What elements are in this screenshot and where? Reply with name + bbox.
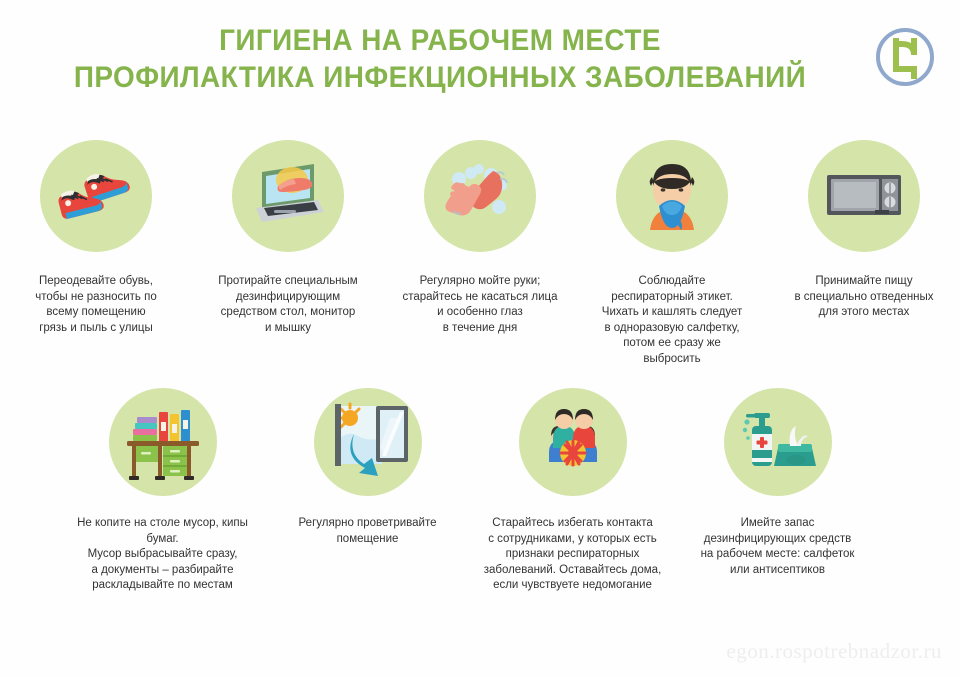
tip-caption: Протирайте специальным дезинфицирующим с…: [198, 274, 378, 336]
tip-caption: Старайтесь избегать контакта с сотрудник…: [473, 516, 673, 594]
title-line-1: ГИГИЕНА НА РАБОЧЕМ МЕСТЕ: [31, 22, 849, 59]
tip-card: Принимайте пищу в специально отведенных …: [768, 140, 960, 367]
icon-circle: [808, 140, 920, 252]
tip-caption: Соблюдайте респираторный этикет. Чихать …: [582, 274, 762, 367]
laptop-wipe-icon: [244, 150, 332, 243]
icon-circle: [424, 140, 536, 252]
tip-caption: Регулярно проветривайте помещение: [268, 516, 468, 547]
tip-caption: Не копите на столе мусор, кипы бумаг. Му…: [63, 516, 263, 594]
icon-circle: [314, 388, 422, 496]
icon-circle: [232, 140, 344, 252]
tips-row-2: Не копите на столе мусор, кипы бумаг. Му…: [60, 388, 900, 594]
rospotrebnadzor-logo: [872, 24, 938, 90]
tip-caption: Имейте запас дезинфицирующих средств на …: [678, 516, 878, 578]
watermark: egon.rospotrebnadzor.ru: [726, 639, 942, 664]
tip-card: Протирайте специальным дезинфицирующим с…: [192, 140, 384, 367]
icon-circle: [519, 388, 627, 496]
tip-card: Имейте запас дезинфицирующих средств на …: [675, 388, 880, 594]
tip-caption: Переодевайте обувь, чтобы не разносить п…: [6, 274, 186, 336]
header: ГИГИЕНА НА РАБОЧЕМ МЕСТЕ ПРОФИЛАКТИКА ИН…: [0, 0, 960, 115]
tip-card: Не копите на столе мусор, кипы бумаг. Му…: [60, 388, 265, 594]
tip-card: Соблюдайте респираторный этикет. Чихать …: [576, 140, 768, 367]
avoid-contact-virus-icon: [529, 396, 617, 489]
tip-caption: Принимайте пищу в специально отведенных …: [774, 274, 954, 321]
open-window-airflow-icon: [324, 396, 412, 489]
page-title: ГИГИЕНА НА РАБОЧЕМ МЕСТЕ ПРОФИЛАКТИКА ИН…: [0, 22, 880, 96]
icon-circle: [724, 388, 832, 496]
microwave-icon: [819, 149, 909, 244]
sneakers-icon: [53, 151, 139, 242]
tip-card: Регулярно проветривайте помещение: [265, 388, 470, 594]
tip-card: Переодевайте обувь, чтобы не разносить п…: [0, 140, 192, 367]
tip-caption: Регулярно мойте руки; старайтесь не каса…: [390, 274, 570, 336]
tips-row-1: Переодевайте обувь, чтобы не разносить п…: [0, 140, 960, 367]
sneeze-tissue-icon: [626, 148, 718, 245]
icon-circle: [616, 140, 728, 252]
icon-circle: [40, 140, 152, 252]
tip-card: Регулярно мойте руки; старайтесь не каса…: [384, 140, 576, 367]
icon-circle: [109, 388, 217, 496]
desk-documents-icon: [119, 396, 207, 489]
sanitizer-tissues-icon: [734, 396, 822, 489]
handwash-icon: [437, 151, 523, 242]
tip-card: Старайтесь избегать контакта с сотрудник…: [470, 388, 675, 594]
title-line-2: ПРОФИЛАКТИКА ИНФЕКЦИОННЫХ ЗАБОЛЕВАНИЙ: [31, 59, 849, 96]
